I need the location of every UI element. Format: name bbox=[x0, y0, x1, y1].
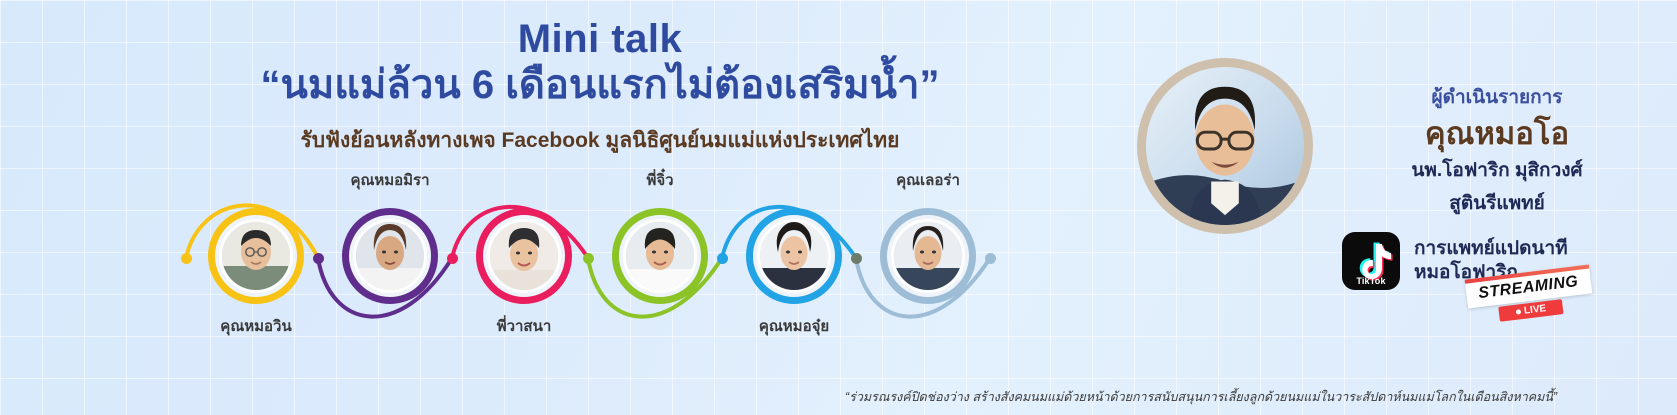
headline-block: Mini talk “นมแม่ล้วน 6 เดือนแรกไม่ต้องเส… bbox=[140, 18, 1060, 157]
speaker-name-3: พี่วาสนา bbox=[464, 314, 584, 338]
connector-dot bbox=[583, 253, 594, 264]
live-dot-icon bbox=[1516, 309, 1522, 315]
host-photo-image bbox=[1146, 67, 1304, 225]
speaker-avatar bbox=[894, 222, 962, 290]
host-nickname: คุณหมอโอ bbox=[1332, 117, 1662, 151]
speaker-avatar bbox=[626, 222, 694, 290]
speaker-name-5: คุณหมอจุ๋ย bbox=[734, 314, 854, 338]
page-subtitle-quote: “นมแม่ล้วน 6 เดือนแรกไม่ต้องเสริมน้ำ” bbox=[140, 62, 1060, 108]
speaker-name-4: พี่จิ๋ว bbox=[600, 168, 720, 192]
connector-dot bbox=[447, 253, 458, 264]
social-channel-line-1: การแพทย์แปดนาที bbox=[1414, 237, 1568, 261]
host-role: ผู้ดำเนินรายการ bbox=[1332, 82, 1662, 112]
host-panel: ผู้ดำเนินรายการ คุณหมอโอ นพ.โอฟาริก มุสิ… bbox=[1117, 0, 1677, 415]
connector-dot bbox=[717, 253, 728, 264]
tiktok-wordmark: TikTok bbox=[1342, 276, 1400, 286]
host-fullname: นพ.โอฟาริก มุสิกวงศ์ bbox=[1332, 159, 1662, 184]
replay-info: รับฟังย้อนหลังทางเพจ Facebook มูลนิธิศูน… bbox=[140, 124, 1060, 157]
connector-dot bbox=[851, 253, 862, 264]
speaker-name-6: คุณเลอร่า bbox=[868, 168, 988, 192]
speaker-name-2: คุณหมอมิรา bbox=[330, 168, 450, 192]
live-label: LIVE bbox=[1523, 303, 1546, 317]
page-title: Mini talk bbox=[140, 18, 1060, 60]
speaker-avatar bbox=[222, 222, 290, 290]
host-specialty: สูตินรีแพทย์ bbox=[1332, 192, 1662, 217]
mini-talk-banner: Mini talk “นมแม่ล้วน 6 เดือนแรกไม่ต้องเส… bbox=[0, 0, 1677, 415]
connector-dot bbox=[181, 253, 192, 264]
host-avatar bbox=[1146, 67, 1304, 225]
host-text-block: ผู้ดำเนินรายการ คุณหมอโอ นพ.โอฟาริก มุสิ… bbox=[1332, 82, 1662, 216]
speakers-row: วิทยากร bbox=[0, 180, 1080, 350]
speaker-avatar bbox=[490, 222, 558, 290]
connector-dot bbox=[985, 253, 996, 264]
speaker-avatar bbox=[760, 222, 828, 290]
connector-dot bbox=[313, 253, 324, 264]
speaker-name-1: คุณหมอวิน bbox=[196, 314, 316, 338]
tiktok-icon[interactable]: TikTok bbox=[1342, 232, 1400, 290]
speaker-avatar bbox=[356, 222, 424, 290]
host-avatar-frame bbox=[1137, 58, 1313, 234]
footer-note: “ร่วมรณรงค์ปิดช่องว่าง สร้างสังคมนมแม่ด้… bbox=[845, 387, 1665, 407]
